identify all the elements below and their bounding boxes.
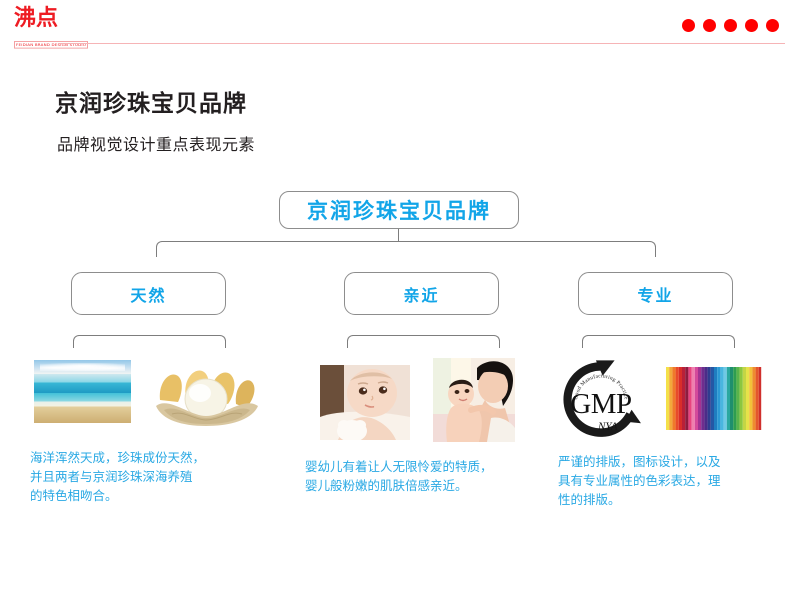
- cloud-detail: [40, 363, 125, 371]
- dot-icon: [703, 19, 716, 32]
- diagram-branch-node-close: 亲近: [344, 272, 499, 315]
- gmp-sub-text: NYA: [597, 421, 618, 433]
- logo-wordmark: 沸点: [14, 7, 86, 31]
- diagram-branch-label: 专业: [637, 282, 673, 306]
- baby-photo: [320, 365, 410, 440]
- color-spectrum-photo: [665, 365, 762, 432]
- connector-root-bracket: [156, 241, 656, 257]
- header-divider: [58, 43, 785, 44]
- header-dots: [682, 19, 779, 32]
- page-title: 京润珍珠宝贝品牌: [55, 84, 247, 118]
- dot-icon: [745, 19, 758, 32]
- dot-icon: [766, 19, 779, 32]
- dot-icon: [682, 19, 695, 32]
- beach-ocean-photo: [34, 360, 131, 423]
- dot-icon: [724, 19, 737, 32]
- diagram-branch-node-natural: 天然: [71, 272, 226, 315]
- diagram-branch-node-professional: 专业: [578, 272, 733, 315]
- baby-graphic: [320, 365, 410, 440]
- branch-caption-natural: 海洋浑然天成，珍珠成份天然， 并且两者与京润珍珠深海养殖 的特色相吻合。: [30, 448, 270, 505]
- connector-branch-bracket-natural: [73, 335, 226, 348]
- connector-branch-bracket-close: [347, 335, 500, 348]
- diagram-branch-label: 亲近: [403, 282, 439, 306]
- mother-and-child-photo: [433, 358, 515, 442]
- pearl-in-shell-photo: [150, 358, 263, 428]
- page-subtitle: 品牌视觉设计重点表现元素: [57, 131, 255, 155]
- slide-header: 沸点 FEIDIAN BRAND DESIGN STUDIO: [0, 0, 801, 52]
- branch-caption-close: 婴幼儿有着让人无限怜爱的特质， 婴儿般粉嫩的肌肤倍感亲近。: [305, 457, 555, 495]
- diagram-branch-label: 天然: [130, 282, 166, 306]
- pearl-shell-graphic: [150, 358, 263, 428]
- connector-branch-bracket-professional: [582, 335, 735, 348]
- gmp-certification-logo: Good Manufacturing Practice GMP NYA: [558, 357, 644, 442]
- gmp-main-text: GMP: [570, 388, 631, 420]
- slide: 沸点 FEIDIAN BRAND DESIGN STUDIO 京润珍珠宝贝品牌 …: [0, 0, 801, 601]
- color-bars-graphic: [665, 365, 762, 432]
- gmp-logo-graphic: Good Manufacturing Practice GMP NYA: [558, 357, 644, 442]
- diagram-root-node: 京润珍珠宝贝品牌: [279, 191, 519, 229]
- diagram-root-label: 京润珍珠宝贝品牌: [307, 195, 491, 225]
- mother-child-graphic: [433, 358, 515, 442]
- branch-caption-professional: 严谨的排版，图标设计，以及 具有专业属性的色彩表达，理 性的排版。: [558, 452, 788, 509]
